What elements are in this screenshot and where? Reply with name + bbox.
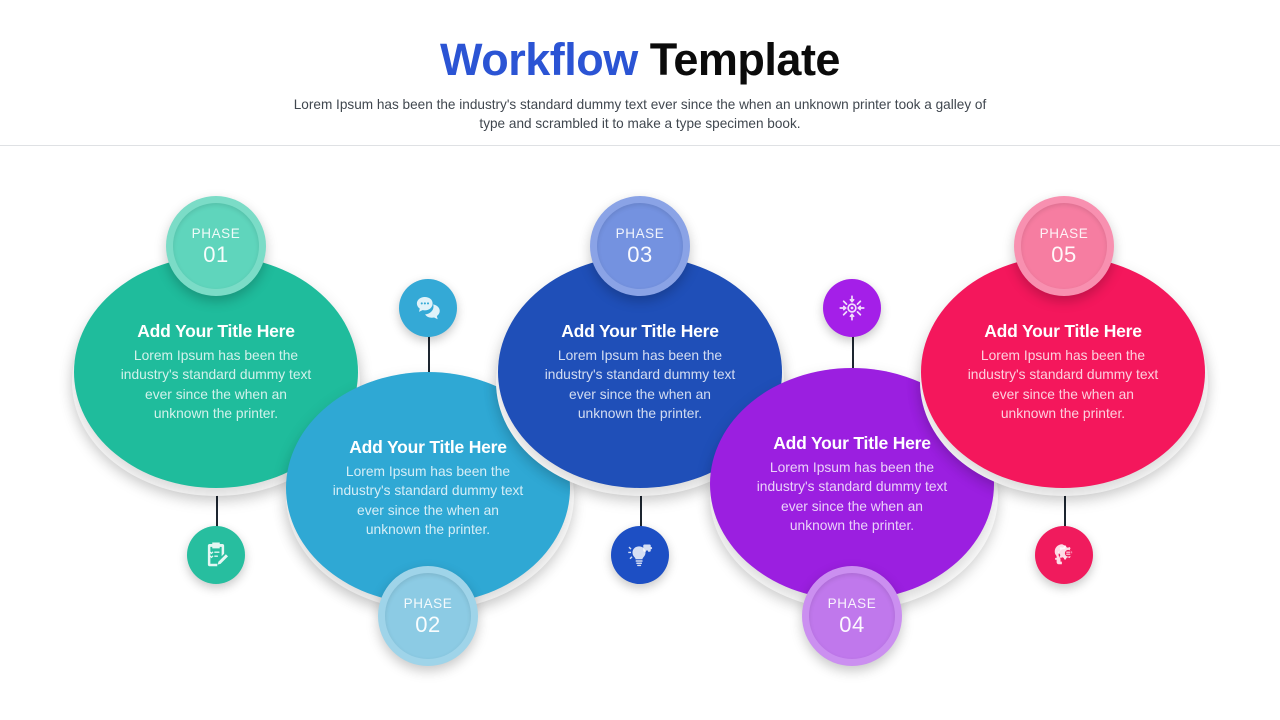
phase-badge-word-02: PHASE — [404, 596, 453, 612]
lightbulb-puzzle-icon — [625, 540, 655, 570]
phase-badge-word-01: PHASE — [192, 226, 241, 242]
clipboard-checklist-pencil-icon — [201, 540, 231, 570]
phase-badge-number-05: 05 — [1051, 242, 1076, 267]
phase-title-05: Add Your Title Here — [958, 321, 1168, 342]
workflow-diagram: Add Your Title Here Lorem Ipsum has been… — [0, 0, 1280, 720]
phase-icon-chip-04[interactable] — [823, 279, 881, 337]
phase-title-01: Add Your Title Here — [111, 321, 321, 342]
phase-badge-04[interactable]: PHASE 04 — [802, 566, 902, 666]
phase-badge-word-03: PHASE — [616, 226, 665, 242]
phase-badge-word-04: PHASE — [828, 596, 877, 612]
phase-icon-chip-03[interactable] — [611, 526, 669, 584]
phase-badge-number-02: 02 — [415, 612, 440, 637]
phase-icon-chip-01[interactable] — [187, 526, 245, 584]
phase-body-02: Lorem Ipsum has been the industry's stan… — [329, 462, 528, 539]
phase-title-04: Add Your Title Here — [747, 433, 957, 454]
phase-title-03: Add Your Title Here — [535, 321, 745, 342]
phase-body-04: Lorem Ipsum has been the industry's stan… — [753, 458, 952, 535]
phase-body-05: Lorem Ipsum has been the industry's stan… — [964, 346, 1163, 423]
slide-root: Workflow Template Lorem Ipsum has been t… — [0, 0, 1280, 720]
phase-badge-02[interactable]: PHASE 02 — [378, 566, 478, 666]
phase-badge-01[interactable]: PHASE 01 — [166, 196, 266, 296]
hub-network-arrows-icon — [837, 293, 867, 323]
phase-badge-number-03: 03 — [627, 242, 652, 267]
phase-badge-word-05: PHASE — [1040, 226, 1089, 242]
phase-badge-number-01: 01 — [203, 242, 228, 267]
chat-bubbles-icon — [413, 293, 443, 323]
phase-icon-chip-05[interactable] — [1035, 526, 1093, 584]
phase-title-02: Add Your Title Here — [323, 437, 533, 458]
phase-badge-03[interactable]: PHASE 03 — [590, 196, 690, 296]
phase-icon-chip-02[interactable] — [399, 279, 457, 337]
phase-badge-05[interactable]: PHASE 05 — [1014, 196, 1114, 296]
phase-body-01: Lorem Ipsum has been the industry's stan… — [117, 346, 316, 423]
phase-badge-number-04: 04 — [839, 612, 864, 637]
phase-body-03: Lorem Ipsum has been the industry's stan… — [541, 346, 740, 423]
head-gear-thinking-icon — [1049, 540, 1079, 570]
